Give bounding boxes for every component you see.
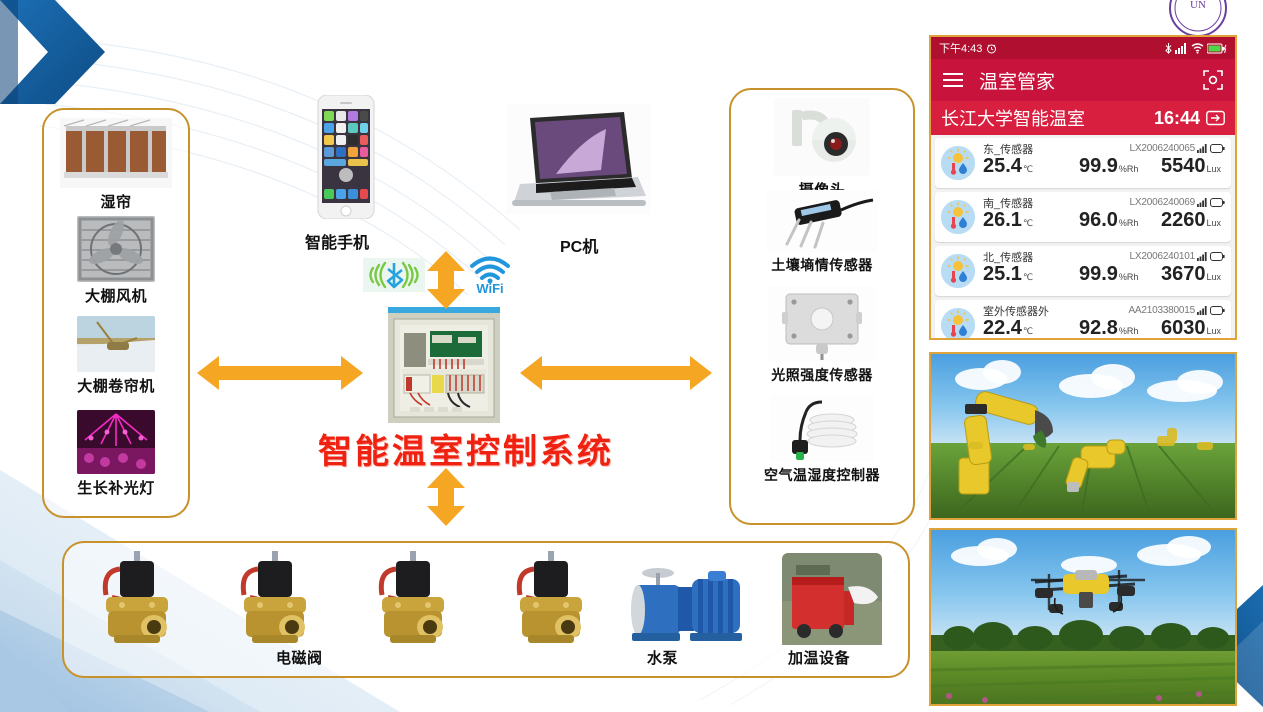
bluetooth-icon bbox=[1165, 42, 1172, 54]
temp-humidity-light-icon bbox=[941, 308, 975, 340]
sensor-humidity: 99.9 bbox=[1079, 156, 1118, 176]
hamburger-menu-icon[interactable] bbox=[943, 73, 963, 88]
battery-icon bbox=[1210, 252, 1225, 261]
unit-lux: Lux bbox=[1206, 218, 1221, 228]
site-name: 长江大学智能温室 bbox=[941, 105, 1085, 131]
device-light-intensity-sensor[interactable]: 光照强度传感器 bbox=[731, 286, 913, 385]
site-time: 16:44 bbox=[1154, 108, 1200, 129]
signal-bars-icon bbox=[1197, 144, 1208, 153]
unit-humidity: %Rh bbox=[1119, 326, 1139, 336]
sensor-temp: 25.1 bbox=[983, 264, 1022, 284]
device-camera[interactable]: 摄像头 bbox=[731, 98, 913, 200]
unit-lux: Lux bbox=[1206, 272, 1221, 282]
grow-light-icon bbox=[77, 410, 155, 474]
sensor-panel-right: 摄像头 土壤墒情传感器 bbox=[729, 88, 915, 525]
signal-bars-icon bbox=[1197, 252, 1208, 261]
device-label: 大棚卷帘机 bbox=[44, 375, 188, 396]
sensor-serial: AA2103380015 bbox=[1128, 305, 1195, 316]
temp-humidity-light-icon bbox=[941, 254, 975, 288]
signal-bars-icon bbox=[1197, 306, 1208, 315]
alarm-clock-icon bbox=[986, 43, 997, 54]
battery-icon bbox=[1210, 306, 1225, 315]
app-site-bar: 长江大学智能温室 16:44 bbox=[931, 101, 1235, 135]
solenoid-valve-icon[interactable] bbox=[498, 549, 618, 649]
device-soil-moisture-sensor[interactable]: 土壤墒情传感器 bbox=[731, 190, 913, 275]
solenoid-valve-icon[interactable] bbox=[360, 549, 480, 649]
device-label: 土壤墒情传感器 bbox=[731, 255, 913, 275]
svg-text:UN: UN bbox=[1190, 0, 1206, 11]
unit-lux: Lux bbox=[1206, 326, 1221, 336]
sensor-card-list: 东_传感器 LX2006240065 25.4℃ bbox=[931, 135, 1235, 340]
battery-icon bbox=[1210, 144, 1225, 153]
unit-humidity: %Rh bbox=[1119, 218, 1139, 228]
wifi-icon bbox=[1191, 43, 1204, 54]
device-air-temp-humidity-controller[interactable]: 空气温湿度控制器 bbox=[731, 396, 913, 485]
control-cabinet-icon[interactable] bbox=[388, 307, 500, 423]
temp-humidity-light-icon bbox=[941, 200, 975, 234]
device-roller-shutter[interactable]: 大棚卷帘机 bbox=[44, 316, 188, 396]
device-label: 电磁阀 bbox=[276, 647, 323, 668]
sensor-card[interactable]: 东_传感器 LX2006240065 25.4℃ bbox=[935, 138, 1231, 188]
sensor-serial: LX2006240101 bbox=[1130, 251, 1195, 262]
app-title: 温室管家 bbox=[979, 67, 1055, 94]
actuator-panel-bottom: 电磁阀 水泵 bbox=[62, 541, 910, 678]
sensor-card[interactable]: 南_传感器 LX2006240069 26.1℃ bbox=[935, 192, 1231, 242]
soil-moisture-sensor-icon bbox=[767, 190, 877, 252]
device-label: 加温设备 bbox=[788, 647, 850, 668]
sensor-temp: 26.1 bbox=[983, 210, 1022, 230]
refresh-icon[interactable] bbox=[1206, 110, 1225, 126]
sensor-card[interactable]: 北_传感器 LX2006240101 25.1℃ bbox=[935, 246, 1231, 296]
laptop-icon[interactable] bbox=[506, 104, 650, 214]
sensor-lux: 2260 bbox=[1161, 210, 1206, 230]
device-greenhouse-fan[interactable]: 大棚风机 bbox=[44, 216, 188, 306]
sensor-card[interactable]: 室外传感器外 AA2103380015 22.4℃ bbox=[935, 300, 1231, 340]
qr-scan-icon[interactable] bbox=[1203, 70, 1223, 90]
sensor-humidity: 99.9 bbox=[1079, 264, 1118, 284]
roller-shutter-icon bbox=[77, 316, 155, 372]
phone-status-bar: 下午4:43 bbox=[931, 37, 1235, 59]
solenoid-valve-icon[interactable] bbox=[84, 549, 204, 649]
light-intensity-sensor-icon bbox=[768, 286, 876, 362]
center-label-smartphone: 智能手机 bbox=[305, 229, 369, 253]
unit-humidity: %Rh bbox=[1119, 164, 1139, 174]
slide-root: UN 湿帘 bbox=[0, 0, 1263, 712]
unit-humidity: %Rh bbox=[1119, 272, 1139, 282]
center-label-pc: PC机 bbox=[560, 233, 598, 257]
unit-temp: ℃ bbox=[1023, 218, 1033, 229]
unit-temp: ℃ bbox=[1023, 326, 1033, 337]
svg-text:WiFi: WiFi bbox=[476, 281, 503, 294]
app-top-bar: 温室管家 bbox=[931, 59, 1235, 101]
signal-bars-icon bbox=[1197, 198, 1208, 207]
status-time: 下午4:43 bbox=[939, 40, 982, 56]
bluetooth-icon bbox=[363, 258, 425, 292]
heating-equipment-icon[interactable] bbox=[782, 553, 882, 645]
unit-temp: ℃ bbox=[1023, 272, 1033, 283]
greenhouse-app-screenshot: 下午4:43 bbox=[929, 35, 1237, 340]
greenhouse-fan-icon bbox=[77, 216, 155, 282]
device-label: 空气温湿度控制器 bbox=[731, 465, 913, 485]
unit-lux: Lux bbox=[1206, 164, 1221, 174]
battery-icon bbox=[1210, 198, 1225, 207]
sensor-temp: 22.4 bbox=[983, 318, 1022, 338]
signal-bars-icon bbox=[1175, 43, 1188, 54]
camera-icon bbox=[774, 98, 870, 176]
arrow-horizontal-right bbox=[520, 356, 712, 390]
device-label: 光照强度传感器 bbox=[731, 365, 913, 385]
sensor-lux: 5540 bbox=[1161, 156, 1206, 176]
sensor-humidity: 96.0 bbox=[1079, 210, 1118, 230]
sensor-lux: 3670 bbox=[1161, 264, 1206, 284]
device-label: 生长补光灯 bbox=[44, 477, 188, 498]
device-label: 大棚风机 bbox=[44, 285, 188, 306]
sensor-serial: LX2006240065 bbox=[1130, 143, 1195, 154]
device-wet-curtain[interactable]: 湿帘 bbox=[44, 118, 188, 212]
device-label: 水泵 bbox=[647, 647, 678, 668]
arrow-vertical-bottom bbox=[425, 468, 467, 526]
water-pump-icon[interactable] bbox=[624, 557, 754, 647]
sensor-temp: 25.4 bbox=[983, 156, 1022, 176]
temp-humidity-light-icon bbox=[941, 146, 975, 180]
sensor-lux: 6030 bbox=[1161, 318, 1206, 338]
actuator-panel-left: 湿帘 大棚风机 bbox=[42, 108, 190, 518]
device-grow-light[interactable]: 生长补光灯 bbox=[44, 410, 188, 498]
sensor-humidity: 92.8 bbox=[1079, 318, 1118, 338]
solenoid-valve-icon[interactable] bbox=[222, 549, 342, 649]
battery-charging-icon bbox=[1207, 43, 1227, 54]
air-temp-humidity-controller-icon bbox=[770, 396, 874, 462]
arrow-horizontal-left bbox=[197, 356, 363, 390]
wifi-icon: WiFi bbox=[466, 252, 514, 294]
unit-temp: ℃ bbox=[1023, 164, 1033, 175]
smartphone-icon[interactable] bbox=[302, 95, 390, 219]
page-title: 智能温室控制系统 bbox=[296, 424, 636, 473]
arrow-vertical-top bbox=[425, 251, 467, 309]
agricultural-robot-photo bbox=[929, 352, 1237, 520]
agricultural-drone-photo bbox=[929, 528, 1237, 706]
corner-chevron-top-left bbox=[0, 0, 110, 120]
wet-curtain-icon bbox=[60, 118, 172, 188]
device-label: 湿帘 bbox=[44, 191, 188, 212]
sensor-serial: LX2006240069 bbox=[1130, 197, 1195, 208]
